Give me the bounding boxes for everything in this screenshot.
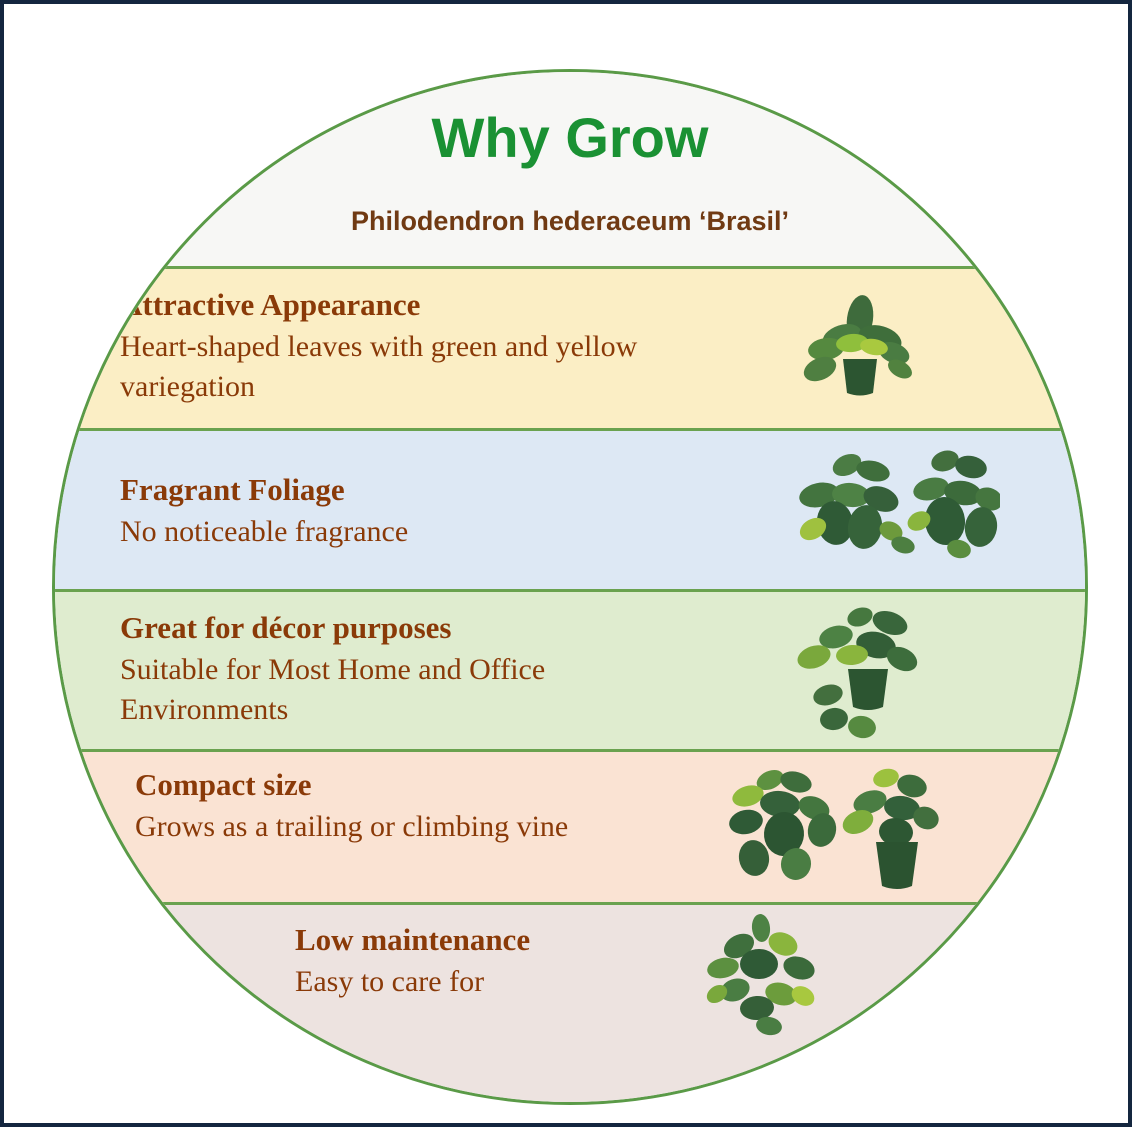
infographic-page: Why Grow Philodendron hederaceum ‘Brasil…	[0, 0, 1132, 1127]
header-section: Why Grow Philodendron hederaceum ‘Brasil…	[55, 72, 1085, 269]
band-4-heading: Compact size	[135, 767, 715, 803]
why-grow-circle: Why Grow Philodendron hederaceum ‘Brasil…	[52, 69, 1088, 1105]
band-1-text: Attractive Appearance Heart-shaped leave…	[120, 287, 680, 406]
band-4-text: Compact size Grows as a trailing or clim…	[135, 767, 715, 847]
band-4-body: Grows as a trailing or climbing vine	[135, 807, 715, 847]
plant-botanical-name: Philodendron hederaceum ‘Brasil’	[55, 207, 1085, 237]
divider-5	[52, 902, 1088, 905]
band-1-heading: Attractive Appearance	[120, 287, 680, 323]
divider-2	[52, 428, 1088, 431]
band-1-body: Heart-shaped leaves with green and yello…	[120, 327, 680, 406]
band-3-text: Great for décor purposes Suitable for Mo…	[120, 610, 700, 729]
band-3-heading: Great for décor purposes	[120, 610, 700, 646]
page-title: Why Grow	[55, 110, 1085, 166]
band-2-heading: Fragrant Foliage	[120, 472, 680, 508]
band-5-heading: Low maintenance	[295, 922, 715, 958]
divider-4	[52, 749, 1088, 752]
band-3-body: Suitable for Most Home and Office Enviro…	[120, 650, 700, 729]
band-5-text: Low maintenance Easy to care for	[295, 922, 715, 1002]
band-2-text: Fragrant Foliage No noticeable fragrance	[120, 472, 680, 552]
band-5-body: Easy to care for	[295, 962, 715, 1002]
divider-1	[52, 266, 1088, 269]
divider-3	[52, 589, 1088, 592]
band-2-body: No noticeable fragrance	[120, 512, 680, 552]
